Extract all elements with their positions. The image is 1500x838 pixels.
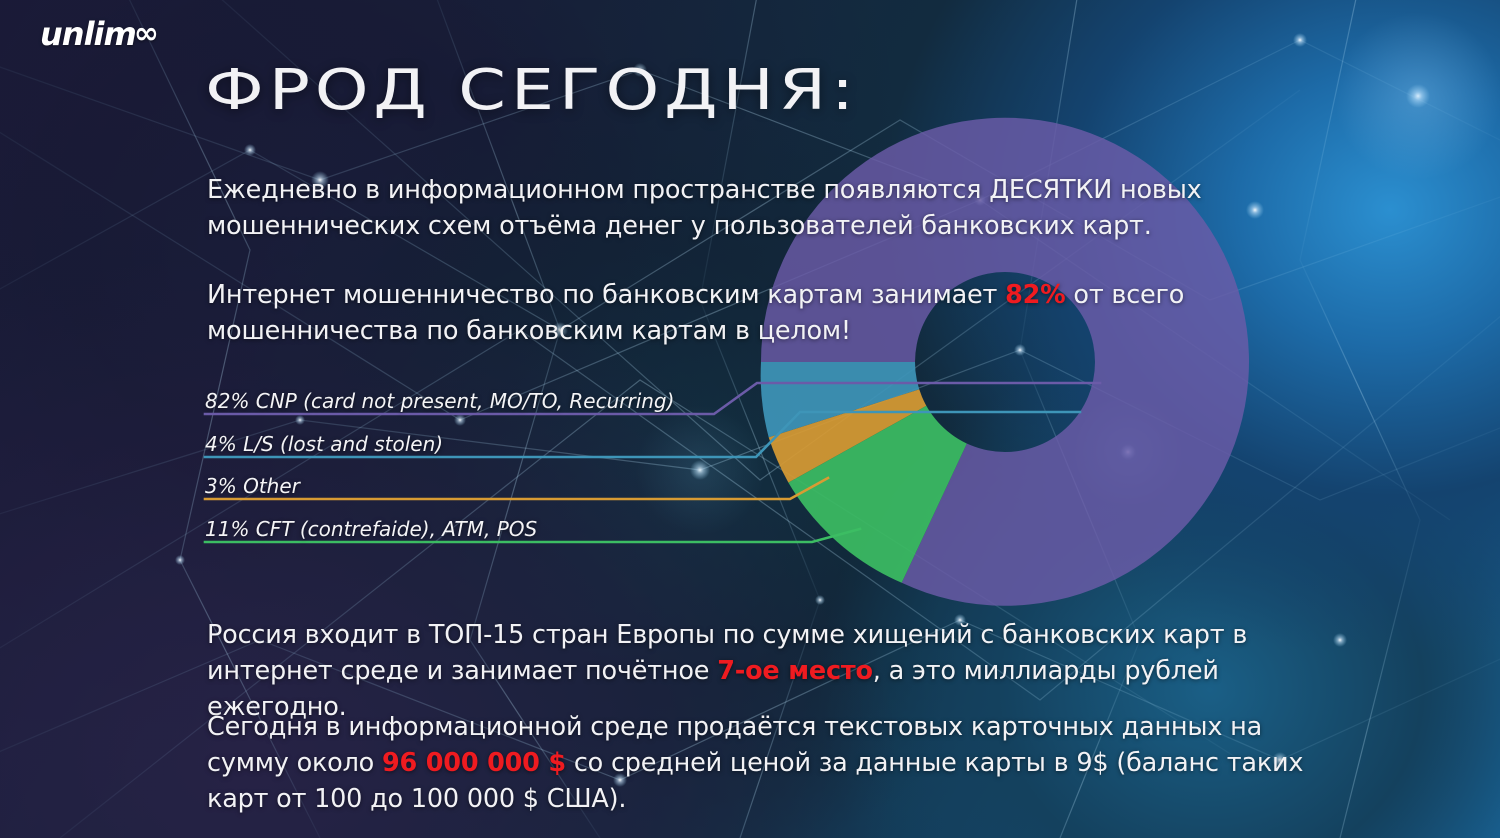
p2-highlight-82: 82% — [1005, 280, 1065, 310]
leader-line-other — [205, 478, 828, 499]
p1-text: Ежедневно в информационном пространстве … — [207, 175, 1202, 241]
leader-line-ls — [205, 412, 1080, 457]
paragraph-daily-schemes: Ежедневно в информационном пространстве … — [207, 172, 1217, 244]
paragraph-internet-fraud-share: Интернет мошенничество по банковским кар… — [207, 277, 1217, 349]
p3-highlight-rank: 7-ое место — [717, 656, 873, 686]
slide: unlim∞ ФРОД СЕГОДНЯ: — [0, 0, 1500, 838]
leader-line-cft — [205, 529, 860, 542]
paragraph-card-data-market: Сегодня в информационной среде продаётся… — [207, 709, 1337, 817]
leader-line-cnp — [205, 383, 1100, 414]
p2-text-a: Интернет мошенничество по банковским кар… — [207, 280, 1005, 310]
p4-highlight-amount: 96 000 000 $ — [382, 748, 566, 778]
